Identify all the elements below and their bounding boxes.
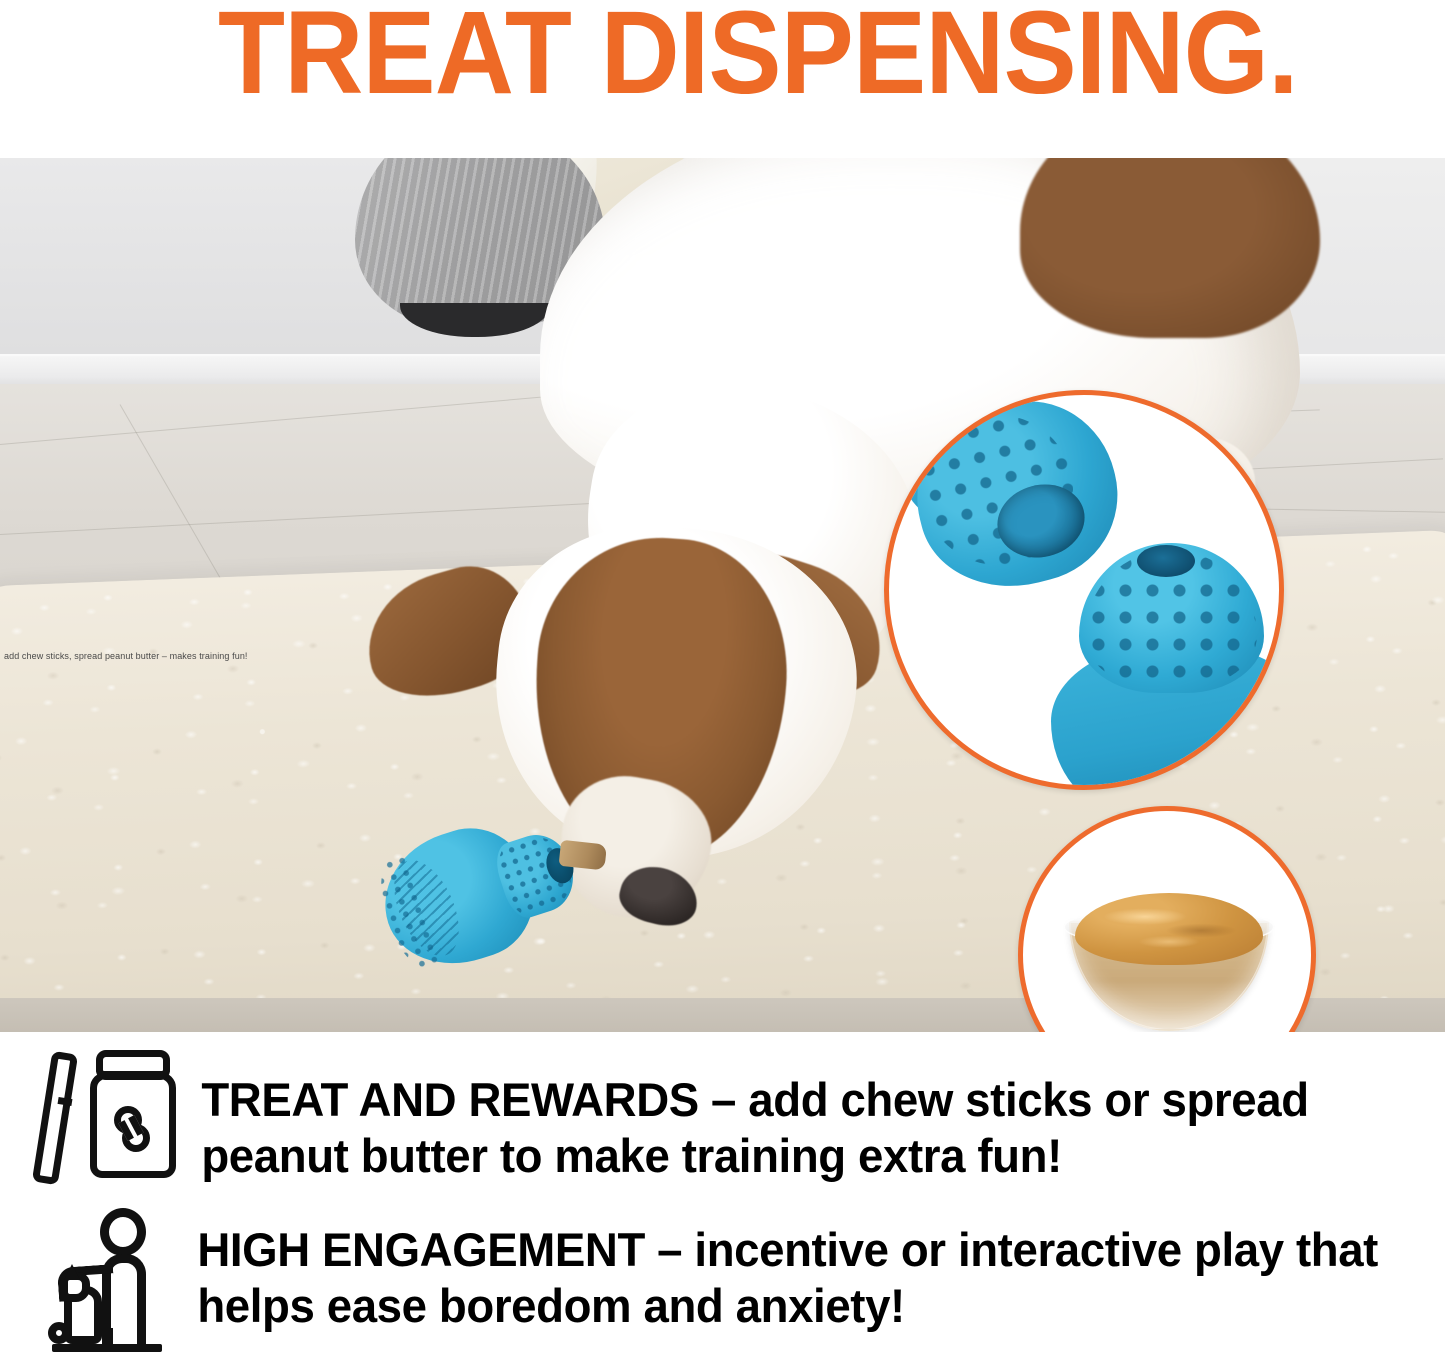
ground-line-icon xyxy=(52,1344,162,1352)
photo-micro-caption: add chew sticks, spread peanut butter – … xyxy=(4,651,248,661)
bullet-text-treat-and-rewards: TREAT AND REWARDS – add chew sticks or s… xyxy=(180,1046,1391,1184)
peanut-icon xyxy=(114,1106,154,1152)
product-feature-page: TREAT DISPENSING. xyxy=(0,0,1445,1354)
inset-toys-closeup xyxy=(884,390,1284,790)
bullet-high-engagement: HIGH ENGAGEMENT – incentive or interacti… xyxy=(46,1204,1426,1352)
chew-stick xyxy=(559,840,607,871)
dog-brown-patch xyxy=(1020,158,1320,338)
dog-ear-icon xyxy=(64,1264,80,1280)
feature-bullets: TREAT AND REWARDS – add chew sticks or s… xyxy=(0,1032,1445,1354)
person-head-icon xyxy=(100,1208,146,1256)
chew-stick-and-peanut-butter-jar-icon xyxy=(28,1046,180,1196)
person-with-dog-icon xyxy=(46,1204,176,1352)
peanut-butter-swirl xyxy=(1089,897,1249,953)
page-title: TREAT DISPENSING. xyxy=(218,0,1298,112)
inset-toy-b-opening xyxy=(1137,545,1195,577)
bullet-treat-and-rewards: TREAT AND REWARDS – add chew sticks or s… xyxy=(28,1046,1428,1196)
lifestyle-photo: add chew sticks, spread peanut butter – … xyxy=(0,158,1445,1032)
dog-tail-icon xyxy=(48,1322,70,1344)
headline-bar: TREAT DISPENSING. xyxy=(0,0,1445,158)
jar-lid-band xyxy=(96,1064,170,1078)
bullet-text-high-engagement: HIGH ENGAGEMENT – incentive or interacti… xyxy=(176,1204,1389,1334)
chew-stick-icon xyxy=(32,1051,78,1185)
